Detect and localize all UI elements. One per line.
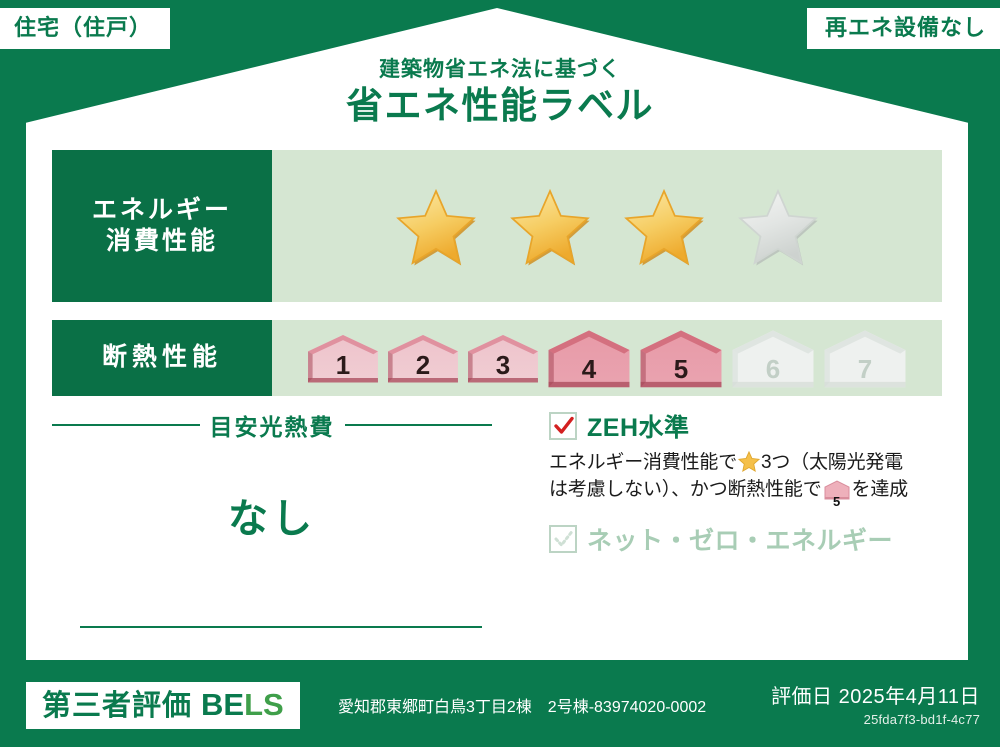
bels-logo: BELS: [201, 689, 284, 720]
bels-logo-part2: LS: [244, 687, 284, 722]
heading-rule-left: [52, 424, 200, 426]
star-icon-filled: [620, 184, 708, 268]
zeh-standard-label: ZEH水準: [587, 408, 690, 444]
insulation-step-4: 4: [545, 327, 633, 389]
check-icon-disabled: [553, 528, 575, 550]
insulation-house-inline-number: 5: [824, 495, 850, 508]
insulation-step-1: 1: [305, 332, 381, 384]
label-subtitle: 建築物省エネ法に基づく: [0, 58, 1000, 81]
energy-performance-label: エネルギー 消費性能: [52, 150, 272, 302]
insulation-step-6: 6: [729, 327, 817, 389]
badge-building-type: 住宅（住戸）: [0, 8, 170, 49]
utility-cost-panel: 目安光熱費 なし: [52, 408, 492, 628]
insulation-step-7: 7: [821, 327, 909, 389]
insulation-step-number: 6: [729, 356, 817, 382]
star-icon-filled: [392, 184, 480, 268]
insulation-step-number: 4: [545, 356, 633, 382]
insulation-scale: 1234567: [272, 320, 942, 396]
insulation-step-number: 2: [385, 352, 461, 378]
insulation-house-icon-inline: 5: [824, 480, 850, 509]
insulation-step-number: 7: [821, 356, 909, 382]
insulation-performance-label: 断熱性能: [52, 320, 272, 396]
zeh-desc-star-count: 3つ（太陽光発電: [761, 452, 903, 473]
zeh-standard-row: ZEH水準: [549, 408, 949, 444]
insulation-performance-row: 断熱性能 1234567: [52, 320, 942, 396]
bels-jp-text: 第三者評価: [42, 692, 192, 721]
check-icon: [553, 415, 575, 437]
evaluation-id: 25fda7f3-bd1f-4c77: [771, 712, 980, 727]
zeh-net-zero-label: ネット・ゼロ・エネルギー: [587, 521, 893, 557]
bels-logo-part1: BE: [201, 687, 244, 722]
star-icon-filled: [506, 184, 594, 268]
zeh-desc-part2: は考慮しない）、かつ断熱性能で: [549, 479, 822, 500]
bels-badge: 第三者評価 BELS: [26, 682, 300, 729]
insulation-step-number: 1: [305, 352, 381, 378]
zeh-desc-part1: エネルギー消費性能で: [549, 452, 737, 473]
property-address: 愛知郡東郷町白鳥3丁目2棟 2号棟-83974020-0002: [338, 693, 706, 717]
insulation-step-5: 5: [637, 327, 725, 389]
star-rating: [272, 150, 942, 302]
insulation-step-3: 3: [465, 332, 541, 384]
badge-renewable-energy: 再エネ設備なし: [807, 8, 1000, 49]
energy-performance-row: エネルギー 消費性能: [52, 150, 942, 302]
energy-performance-label: 住宅（住戸） 再エネ設備なし 建築物省エネ法に基づく 省エネ性能ラベル エネルギ…: [0, 0, 1000, 747]
energy-label-line2: 消費性能: [92, 226, 232, 257]
utility-cost-heading-text: 目安光熱費: [210, 408, 335, 442]
utility-cost-heading: 目安光熱費: [52, 408, 492, 442]
zeh-description: エネルギー消費性能で 3つ（太陽光発電 は考慮しない）、かつ断熱性能で 5 を達…: [549, 450, 949, 509]
energy-label-line1: エネルギー: [92, 195, 232, 226]
insulation-step-number: 5: [637, 356, 725, 382]
evaluation-info: 評価日 2025年4月11日 25fda7f3-bd1f-4c77: [771, 680, 980, 727]
insulation-step-number: 3: [465, 352, 541, 378]
zeh-desc-part3: を達成: [852, 479, 908, 500]
utility-cost-value: なし: [52, 486, 492, 544]
zeh-net-zero-row: ネット・ゼロ・エネルギー: [549, 521, 949, 557]
heading-rule-right: [345, 424, 493, 426]
zeh-net-zero-checkbox[interactable]: [549, 525, 577, 553]
zeh-panel: ZEH水準 エネルギー消費性能で 3つ（太陽光発電 は考慮しない）、かつ断熱性能…: [549, 408, 949, 557]
title-block: 建築物省エネ法に基づく 省エネ性能ラベル: [0, 58, 1000, 128]
star-icon-empty: [734, 184, 822, 268]
star-icon-inline: [738, 451, 760, 472]
evaluation-date: 評価日 2025年4月11日: [771, 680, 980, 709]
page-title: 省エネ性能ラベル: [0, 85, 1000, 128]
utility-cost-underline: [80, 626, 482, 628]
insulation-step-2: 2: [385, 332, 461, 384]
zeh-standard-checkbox[interactable]: [549, 412, 577, 440]
